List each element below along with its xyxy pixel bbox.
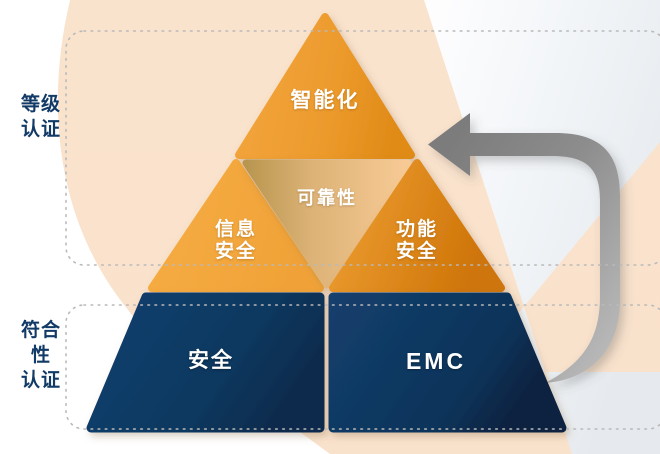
safety-trapezoid[interactable] [91, 297, 320, 428]
pyramid-shapes [0, 0, 660, 454]
intelligence-triangle[interactable] [239, 17, 411, 155]
side-label-compliance-certification: 符合性 认证 [18, 318, 64, 393]
diagram-canvas: 等级 认证 符合性 认证 智能化 信息 安全 可靠性 功能 安全 安全 EMC [0, 0, 660, 454]
block-safety[interactable] [91, 297, 320, 428]
side-label-grade-certification: 等级 认证 [18, 92, 64, 142]
block-intelligence[interactable] [239, 17, 411, 155]
block-emc[interactable] [333, 297, 562, 428]
emc-trapezoid[interactable] [333, 297, 562, 428]
